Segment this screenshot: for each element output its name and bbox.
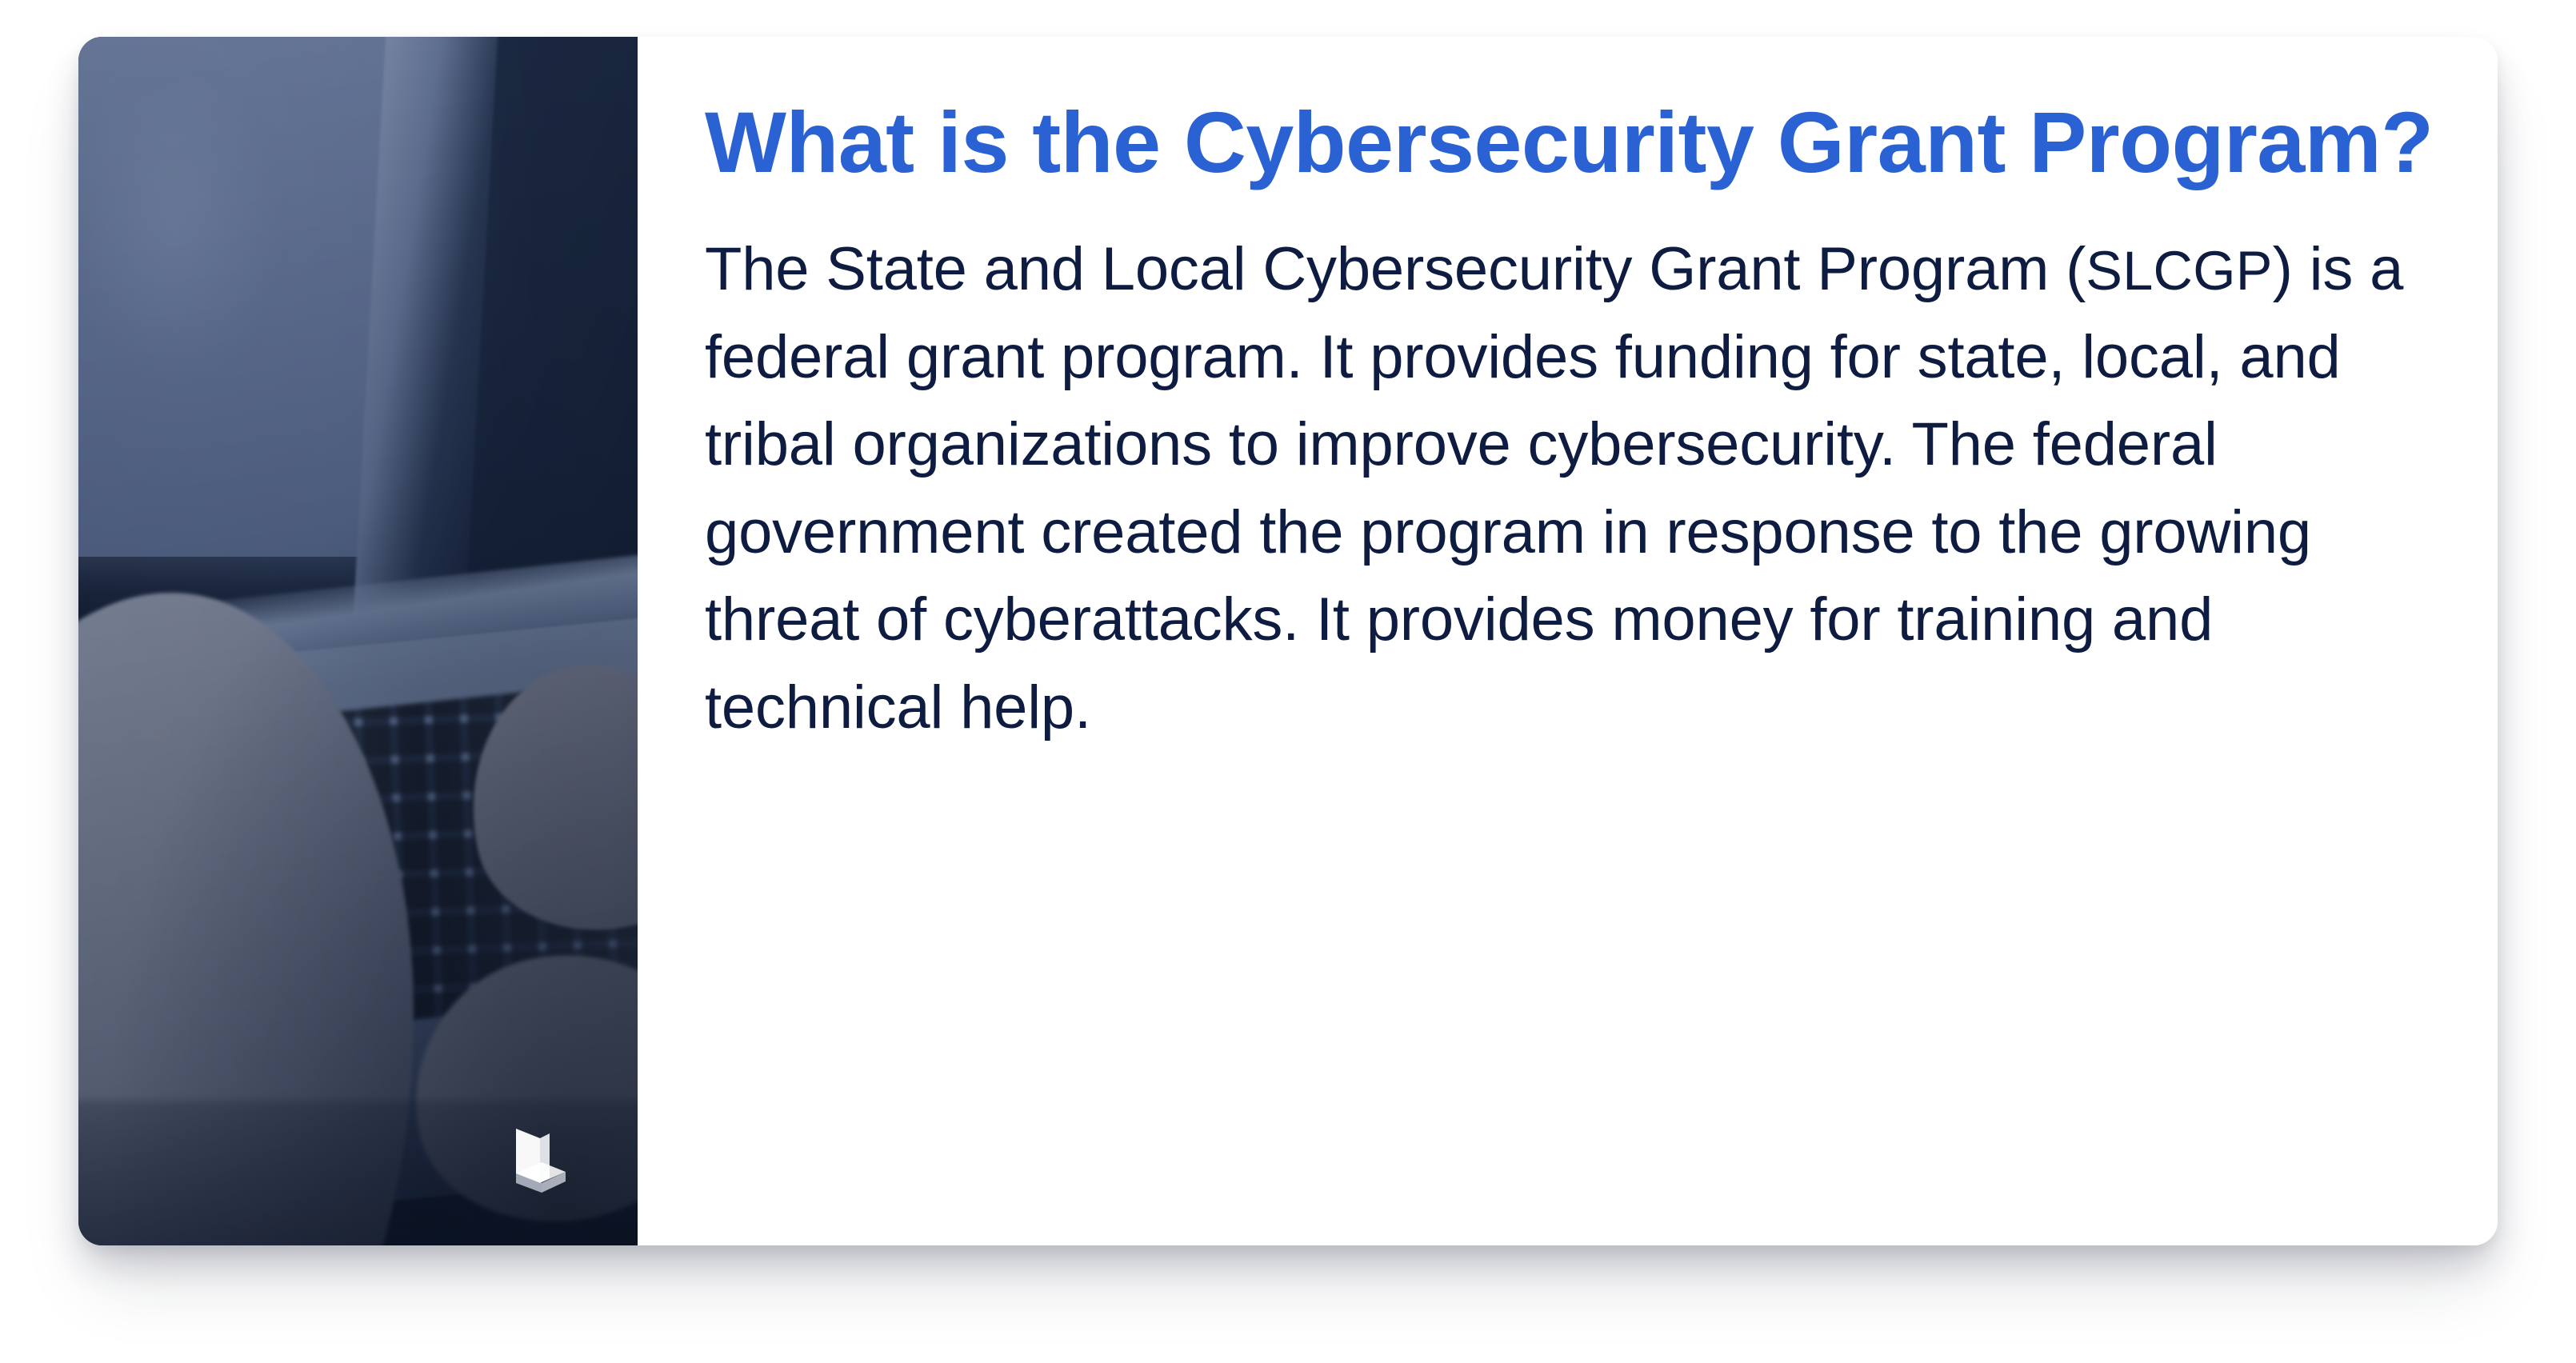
card-text-panel: What is the Cybersecurity Grant Program?… — [638, 37, 2498, 1245]
card-media-panel — [78, 37, 638, 1245]
page-canvas: What is the Cybersecurity Grant Program?… — [0, 0, 2576, 1363]
card-heading: What is the Cybersecurity Grant Program? — [705, 86, 2446, 198]
card-body-text: The State and Local Cybersecurity Grant … — [705, 226, 2446, 751]
photo-cool-overlay — [78, 37, 638, 1245]
info-card: What is the Cybersecurity Grant Program?… — [78, 37, 2498, 1245]
card-body-part-1: The State and Local Cybersecurity Grant … — [705, 235, 2086, 303]
card-body-part-2: ) is a federal grant program. It provide… — [705, 235, 2403, 741]
card-body-abbreviation: SLCGP — [2086, 241, 2272, 302]
